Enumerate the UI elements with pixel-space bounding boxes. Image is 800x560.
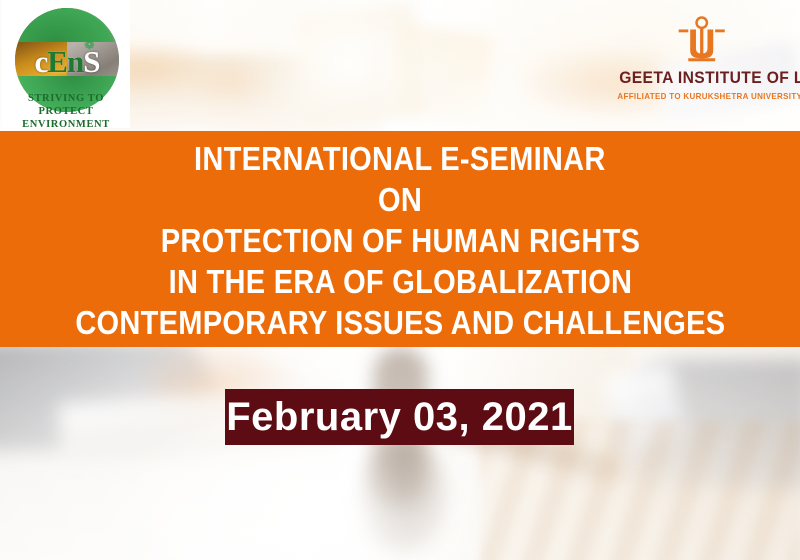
title-line-3: PROTECTION OF HUMAN RIGHTS — [160, 220, 640, 261]
cens-acronym: cEnS — [15, 46, 119, 77]
cens-tagline-line-1: STRIVING TO PROTECT — [2, 92, 130, 118]
photo-glow — [230, 0, 470, 131]
cens-tagline-line-2: ENVIRONMENT — [2, 118, 130, 131]
cens-logo: ❁ cEnS STRIVING TO PROTECT ENVIRONMENT — [2, 0, 130, 128]
title-banner: INTERNATIONAL E-SEMINAR ON PROTECTION OF… — [0, 131, 800, 347]
sprout-icon: ❁ — [84, 38, 98, 52]
date-badge: February 03, 2021 — [225, 389, 574, 445]
gil-monogram-icon — [671, 16, 732, 64]
institute-name: GEETA INSTITUTE OF LAW — [619, 68, 785, 88]
title-line-2: ON — [378, 179, 422, 220]
cens-tagline: STRIVING TO PROTECT ENVIRONMENT — [2, 92, 130, 131]
cens-letter-c: c — [35, 44, 48, 79]
event-poster: ❁ cEnS STRIVING TO PROTECT ENVIRONMENT G… — [0, 0, 800, 560]
title-line-4: IN THE ERA OF GLOBALIZATION — [168, 261, 632, 302]
institute-affiliation: AFFILIATED TO KURUKSHETRA UNIVERSITY — [617, 91, 786, 101]
title-line-5: CONTEMPORARY ISSUES AND CHALLENGES — [75, 302, 725, 343]
title-line-1: INTERNATIONAL E-SEMINAR — [194, 138, 606, 179]
event-date: February 03, 2021 — [226, 397, 573, 437]
bottom-background-photo — [0, 347, 800, 560]
green-continent-top — [15, 8, 119, 42]
geeta-institute-of-law-logo: GEETA INSTITUTE OF LAW AFFILIATED TO KUR… — [612, 16, 792, 116]
cens-letters-en: En — [47, 44, 83, 79]
